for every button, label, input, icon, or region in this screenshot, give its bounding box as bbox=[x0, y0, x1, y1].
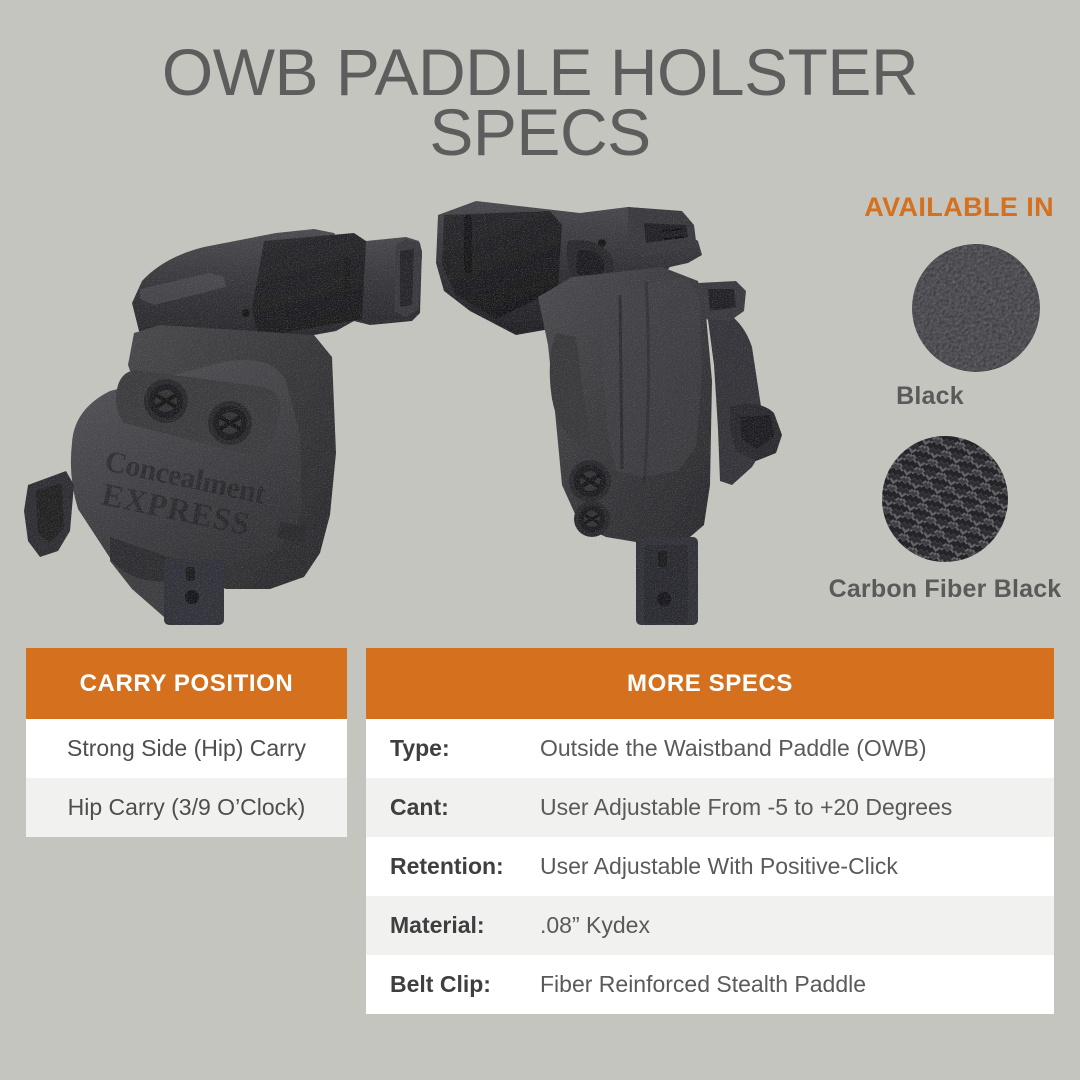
spec-label: Retention: bbox=[390, 853, 540, 880]
table-row: Material: .08” Kydex bbox=[366, 896, 1054, 955]
swatch-carbon-fiber-black[interactable]: Carbon Fiber Black bbox=[806, 435, 1080, 604]
table-row: Type: Outside the Waistband Paddle (OWB) bbox=[366, 719, 1054, 778]
table-row: Cant: User Adjustable From -5 to +20 Deg… bbox=[366, 778, 1054, 837]
black-swatch-label: Black bbox=[806, 382, 1054, 411]
table-row: Retention: User Adjustable With Positive… bbox=[366, 837, 1054, 896]
carry-position-header: CARRY POSITION bbox=[26, 648, 347, 719]
available-in-heading: AVAILABLE IN bbox=[806, 192, 1054, 222]
page-title: OWB PADDLE HOLSTER SPECS bbox=[0, 42, 1080, 162]
spec-value: User Adjustable With Positive-Click bbox=[540, 853, 898, 880]
spec-label: Belt Clip: bbox=[390, 971, 540, 998]
spec-value: .08” Kydex bbox=[540, 912, 650, 939]
spec-value: Fiber Reinforced Stealth Paddle bbox=[540, 971, 866, 998]
page-title-line-2: SPECS bbox=[0, 102, 1080, 162]
spec-label: Type: bbox=[390, 735, 540, 762]
product-gallery: Concealment EXPRESS bbox=[0, 185, 800, 625]
table-row: Belt Clip: Fiber Reinforced Stealth Padd… bbox=[366, 955, 1054, 1014]
carry-position-value: Strong Side (Hip) Carry bbox=[67, 735, 306, 762]
carry-position-table: CARRY POSITION Strong Side (Hip) Carry H… bbox=[26, 648, 347, 837]
carbon-fiber-black-swatch-circle bbox=[881, 435, 1009, 563]
swatch-black[interactable]: Black bbox=[806, 244, 1054, 411]
spec-value: Outside the Waistband Paddle (OWB) bbox=[540, 735, 927, 762]
holster-paddle-view-image: Concealment EXPRESS bbox=[14, 185, 434, 625]
page-title-line-1: OWB PADDLE HOLSTER bbox=[0, 42, 1080, 102]
carry-position-value: Hip Carry (3/9 O’Clock) bbox=[68, 794, 306, 821]
spec-label: Cant: bbox=[390, 794, 540, 821]
holster-body-view-image bbox=[430, 185, 810, 625]
table-row: Hip Carry (3/9 O’Clock) bbox=[26, 778, 347, 837]
carbon-fiber-black-swatch-label: Carbon Fiber Black bbox=[806, 575, 1080, 604]
black-swatch-circle bbox=[912, 244, 1040, 372]
spec-label: Material: bbox=[390, 912, 540, 939]
table-row: Strong Side (Hip) Carry bbox=[26, 719, 347, 778]
more-specs-header: MORE SPECS bbox=[366, 648, 1054, 719]
more-specs-table: MORE SPECS Type: Outside the Waistband P… bbox=[366, 648, 1054, 1014]
spec-value: User Adjustable From -5 to +20 Degrees bbox=[540, 794, 952, 821]
available-in-panel: AVAILABLE IN bbox=[806, 192, 1054, 604]
spec-tables: CARRY POSITION Strong Side (Hip) Carry H… bbox=[26, 648, 1054, 1014]
